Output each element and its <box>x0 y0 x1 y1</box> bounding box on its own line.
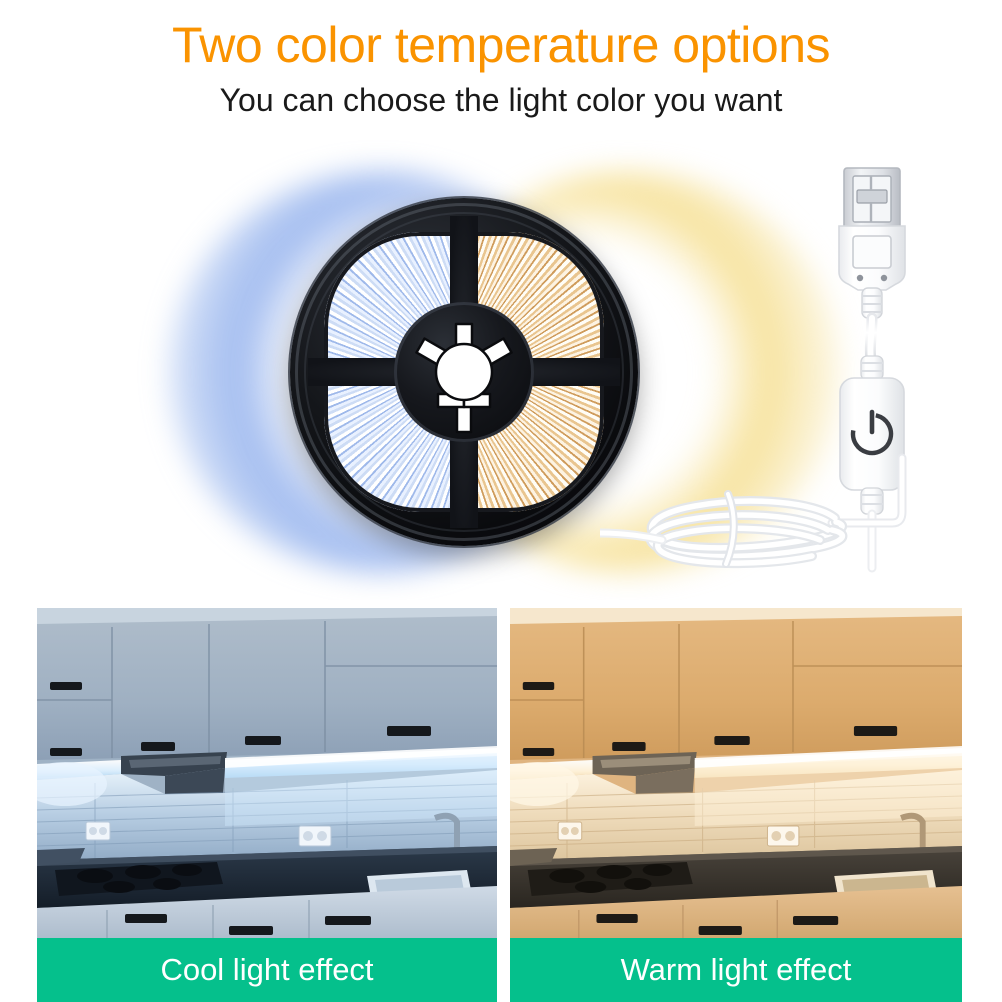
strain-relief-switch-top <box>861 356 883 380</box>
header: Two color temperature options You can ch… <box>0 0 1002 140</box>
reel-center-hub <box>394 302 534 442</box>
caption-cool-label: Cool light effect <box>160 952 373 988</box>
page-subtitle: You can choose the light color you want <box>0 80 1002 120</box>
hub-tri-spoke-icon <box>394 302 534 442</box>
panel-cool-light: Cool light effect <box>37 608 497 1002</box>
caption-warm-label: Warm light effect <box>621 952 852 988</box>
panel-warm-light: Warm light effect <box>510 608 962 1002</box>
led-strip-reel <box>290 198 638 546</box>
page-title: Two color temperature options <box>0 16 1002 74</box>
coiled-white-cable <box>600 430 960 590</box>
caption-bar-cool: Cool light effect <box>37 938 497 1002</box>
kitchen-scene-warm <box>510 608 962 938</box>
kitchen-photo-cool <box>37 608 497 938</box>
cable-highlight-upper <box>870 318 872 360</box>
caption-bar-warm: Warm light effect <box>510 938 962 1002</box>
kitchen-scene-cool <box>37 608 497 938</box>
usb-a-connector <box>839 168 905 290</box>
kitchen-photo-warm <box>510 608 962 938</box>
product-infographic-page: Two color temperature options You can ch… <box>0 0 1002 1002</box>
hero-product-image <box>0 140 1002 600</box>
